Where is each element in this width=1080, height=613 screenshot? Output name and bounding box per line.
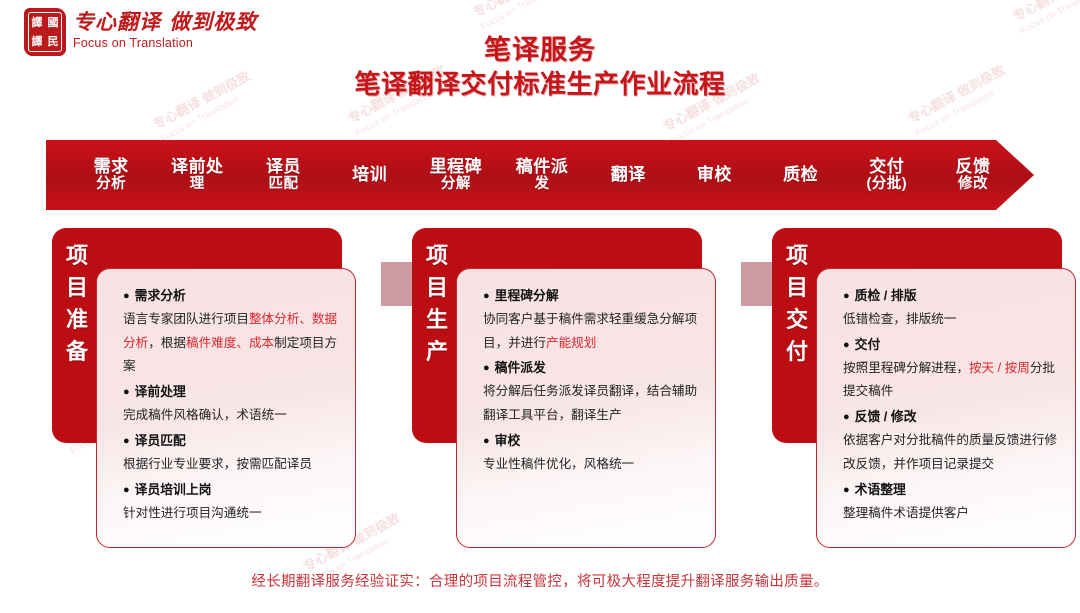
card-item-title: ●需求分析 xyxy=(123,284,341,308)
card-item-desc: 完成稿件风格确认，术语统一 xyxy=(123,404,341,428)
slide-root: 专心翻译 做到极致Focus on Translation专心翻译 做到极致Fo… xyxy=(0,0,1080,613)
card-item-desc-text: 针对性进行项目沟通统一 xyxy=(123,506,262,520)
card-body: ●里程碑分解协同客户基于稿件需求轻重缓急分解项目，并进行产能规划●稿件派发将分解… xyxy=(483,283,701,477)
card-item-title: ●质检 / 排版 xyxy=(843,284,1061,308)
card-panel: ●质检 / 排版低错检查，排版统一●交付按照里程碑分解进程，按天 / 按周分批提… xyxy=(816,268,1076,548)
card-panel: ●需求分析语言专家团队进行项目整体分析、数据分析，根据稿件难度、成本制定项目方案… xyxy=(96,268,356,548)
watermark: 专心翻译 做到极致Focus on Translation xyxy=(470,0,579,32)
process-step-label: 匹配 xyxy=(240,176,326,193)
card-item-desc-text: 整理稿件术语提供客户 xyxy=(843,506,969,520)
card-item-desc-text: 专业性稿件优化，风格统一 xyxy=(483,457,634,471)
card-item-desc-text: 语言专家团队进行项目 xyxy=(123,312,249,326)
bullet-dot-icon: ● xyxy=(843,484,850,496)
card-item-title: ●里程碑分解 xyxy=(483,284,701,308)
card-item-desc: 专业性稿件优化，风格统一 xyxy=(483,453,701,477)
process-step-3[interactable]: 译员匹配 xyxy=(240,157,326,193)
card-item-title: ●术语整理 xyxy=(843,478,1061,502)
card-heading: 项目准备 xyxy=(66,238,89,366)
footer-note: 经长期翻译服务经验证实：合理的项目流程管控，将可极大程度提升翻译服务输出质量。 xyxy=(251,574,828,590)
seal-char: 國 xyxy=(45,13,61,32)
bullet-dot-icon: ● xyxy=(123,484,130,496)
bullet-dot-icon: ● xyxy=(843,290,850,302)
card-item-title: ●译前处理 xyxy=(123,380,341,404)
card-item-desc: 根据行业专业要求，按需匹配译员 xyxy=(123,453,341,477)
process-step-label: 翻译 xyxy=(585,165,671,185)
card-item-desc-text: 将分解后任务派发译员翻译，结合辅助翻译工具平台，翻译生产 xyxy=(483,384,697,422)
card-item-title-text: 术语整理 xyxy=(855,482,906,497)
card-accent-square xyxy=(741,262,775,306)
process-step-label: 交付 xyxy=(844,157,930,177)
card-item-title: ●交付 xyxy=(843,333,1061,357)
process-step-label: 培训 xyxy=(327,165,413,185)
process-steps-list: 需求分析译前处理译员匹配培训里程碑分解稿件派发翻译审校质检交付(分批)反馈修改 xyxy=(46,157,1034,193)
card-heading: 项目生产 xyxy=(426,238,449,366)
card-item-desc-text: 按照里程碑分解进程， xyxy=(843,361,969,375)
card-item-title-text: 译前处理 xyxy=(135,384,186,399)
card-item-desc-text: 低错检查，排版统一 xyxy=(843,312,956,326)
card-item-title-text: 审校 xyxy=(495,433,521,448)
process-step-label: 需求 xyxy=(68,157,154,177)
card-item-title: ●稿件派发 xyxy=(483,356,701,380)
card-item-desc: 协同客户基于稿件需求轻重缓急分解项目，并进行产能规划 xyxy=(483,308,701,355)
process-step-11[interactable]: 反馈修改 xyxy=(930,157,1016,193)
bullet-dot-icon: ● xyxy=(483,435,490,447)
card-item-desc: 将分解后任务派发译员翻译，结合辅助翻译工具平台，翻译生产 xyxy=(483,380,701,427)
bullet-dot-icon: ● xyxy=(483,362,490,374)
card-item-desc: 按照里程碑分解进程，按天 / 按周分批提交稿件 xyxy=(843,357,1061,404)
process-step-label: 里程碑 xyxy=(413,157,499,177)
card-item-desc: 针对性进行项目沟通统一 xyxy=(123,502,341,526)
card-item-desc-text: 依据客户对分批稿件的质量反馈进行修改反馈，并作项目记录提交 xyxy=(843,433,1057,471)
card-item-desc-highlight: 按天 / 按周 xyxy=(969,361,1030,375)
card-item-desc: 整理稿件术语提供客户 xyxy=(843,502,1061,526)
process-arrow-banner: 需求分析译前处理译员匹配培训里程碑分解稿件派发翻译审校质检交付(分批)反馈修改 xyxy=(46,140,1034,210)
process-step-4[interactable]: 培训 xyxy=(327,165,413,185)
card-item-title: ●译员培训上岗 xyxy=(123,478,341,502)
card-item-title: ●反馈 / 修改 xyxy=(843,405,1061,429)
card-item-title-text: 需求分析 xyxy=(135,288,186,303)
bullet-dot-icon: ● xyxy=(843,411,850,423)
card-item-title-text: 译员培训上岗 xyxy=(135,482,212,497)
process-step-label: 译员 xyxy=(240,157,326,177)
card-item-desc: 依据客户对分批稿件的质量反馈进行修改反馈，并作项目记录提交 xyxy=(843,429,1061,476)
page-title: 笔译服务 笔译翻译交付标准生产作业流程 xyxy=(0,34,1080,101)
process-step-label: 质检 xyxy=(758,165,844,185)
process-step-label: 分析 xyxy=(68,176,154,193)
card-body: ●质检 / 排版低错检查，排版统一●交付按照里程碑分解进程，按天 / 按周分批提… xyxy=(843,283,1061,525)
process-step-label: 审校 xyxy=(671,165,757,185)
process-step-10[interactable]: 交付(分批) xyxy=(844,157,930,193)
process-step-9[interactable]: 质检 xyxy=(758,165,844,185)
process-step-5[interactable]: 里程碑分解 xyxy=(413,157,499,193)
card-panel: ●里程碑分解协同客户基于稿件需求轻重缓急分解项目，并进行产能规划●稿件派发将分解… xyxy=(456,268,716,548)
card-body: ●需求分析语言专家团队进行项目整体分析、数据分析，根据稿件难度、成本制定项目方案… xyxy=(123,283,341,525)
bullet-dot-icon: ● xyxy=(483,290,490,302)
process-step-label: 理 xyxy=(154,176,240,193)
process-step-1[interactable]: 需求分析 xyxy=(68,157,154,193)
process-step-2[interactable]: 译前处理 xyxy=(154,157,240,193)
title-primary: 笔译服务 xyxy=(0,34,1080,66)
card-item-title-text: 稿件派发 xyxy=(495,360,546,375)
process-step-6[interactable]: 稿件派发 xyxy=(499,157,585,193)
card-item-title-text: 里程碑分解 xyxy=(495,288,559,303)
card-item-desc-highlight: 产能规划 xyxy=(546,336,596,350)
seal-char: 譯 xyxy=(29,13,45,32)
process-step-label: (分批) xyxy=(844,176,930,193)
process-step-label: 译前处 xyxy=(154,157,240,177)
logo-slogan-cn: 专心翻译 做到极致 xyxy=(73,11,257,33)
watermark: 专心翻译 做到极致Focus on Translation xyxy=(1010,0,1080,36)
title-secondary: 笔译翻译交付标准生产作业流程 xyxy=(0,68,1080,101)
card-heading: 项目交付 xyxy=(786,238,809,366)
process-step-label: 分解 xyxy=(413,176,499,193)
card-item-title-text: 译员匹配 xyxy=(135,433,186,448)
bullet-dot-icon: ● xyxy=(123,435,130,447)
process-step-8[interactable]: 审校 xyxy=(671,165,757,185)
card-item-title-text: 质检 / 排版 xyxy=(855,288,917,303)
card-item-title-text: 反馈 / 修改 xyxy=(855,409,917,424)
bullet-dot-icon: ● xyxy=(843,339,850,351)
process-step-label: 反馈 xyxy=(930,157,1016,177)
card-item-title: ●审校 xyxy=(483,429,701,453)
card-item-title-text: 交付 xyxy=(855,337,881,352)
card-item-desc-highlight: 稿件难度、成本 xyxy=(186,336,274,350)
process-step-label: 修改 xyxy=(930,176,1016,193)
card-item-desc: 语言专家团队进行项目整体分析、数据分析，根据稿件难度、成本制定项目方案 xyxy=(123,308,341,379)
bullet-dot-icon: ● xyxy=(123,386,130,398)
card-item-desc: 低错检查，排版统一 xyxy=(843,308,1061,332)
card-item-title: ●译员匹配 xyxy=(123,429,341,453)
process-step-7[interactable]: 翻译 xyxy=(585,165,671,185)
process-step-label: 稿件派 xyxy=(499,157,585,177)
card-item-desc-text: 根据行业专业要求，按需匹配译员 xyxy=(123,457,312,471)
card-item-desc-text: 完成稿件风格确认，术语统一 xyxy=(123,408,287,422)
card-accent-square xyxy=(381,262,415,306)
card-item-desc-text: ，根据 xyxy=(148,336,186,350)
bullet-dot-icon: ● xyxy=(123,290,130,302)
process-step-label: 发 xyxy=(499,176,585,193)
